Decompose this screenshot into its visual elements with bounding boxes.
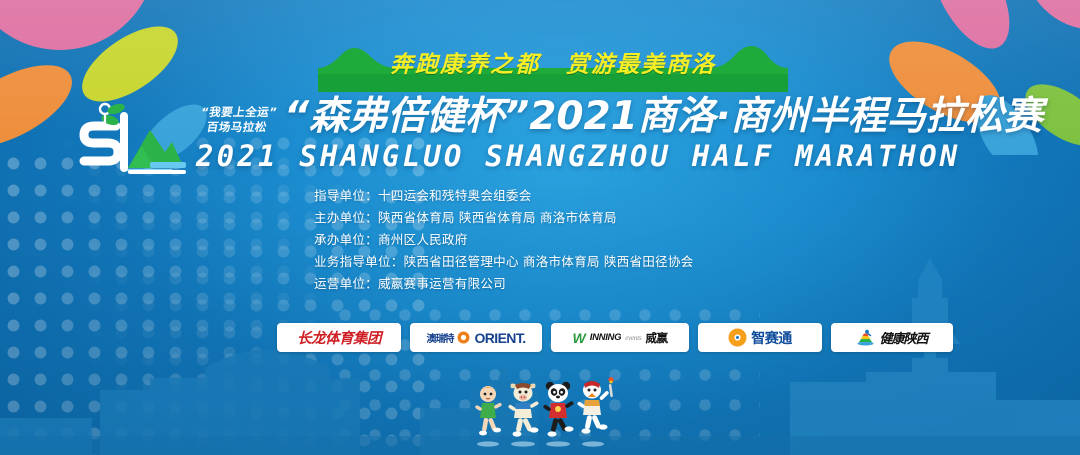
sponsor-logo-strip: 长龙体育集团 澳瑞特 ORIENT. W INNING events 威嬴 智赛…	[277, 323, 953, 352]
org-value: 陕西省田径管理中心 商洛市体育局 陕西省田径协会	[404, 254, 694, 269]
sponsor-winning-english: INNING	[590, 332, 621, 343]
org-label: 主办单位：	[314, 210, 378, 225]
title-english: 2021 SHANGLUO SHANGZHOU HALF MARATHON	[196, 142, 1046, 171]
org-value: 陕西省体育局 陕西省体育局 商洛市体育局	[378, 210, 617, 225]
sponsor-changlong-text: 长龙体育集团	[297, 327, 381, 348]
org-row: 运营单位：威嬴赛事运营有限公司	[314, 278, 954, 291]
org-row: 业务指导单位：陕西省田径管理中心 商洛市体育局 陕西省田径协会	[314, 256, 954, 269]
title-chinese: “森弗倍健杯”2021商洛·商州半程马拉松赛	[284, 97, 1044, 136]
zhisaitong-swirl-icon	[728, 328, 747, 347]
sponsor-healthy-shaanxi-chinese: 健康陕西	[879, 328, 927, 347]
stamp-line-2: 百场马拉松	[206, 121, 268, 134]
org-value: 十四运会和残特奥会组委会	[378, 188, 532, 203]
games-slogan-stamp: “我要上全运” 百场马拉松	[189, 101, 287, 139]
org-row: 指导单位：十四运会和残特奥会组委会	[314, 190, 954, 203]
sponsor-logo-orient[interactable]: 澳瑞特 ORIENT.	[410, 323, 542, 352]
marathon-poster: 奔跑康养之都 赏游最美商洛 “我要上全运” 百场马拉松 “森弗倍健杯”20	[0, 0, 1080, 455]
org-row: 主办单位：陕西省体育局 陕西省体育局 商洛市体育局	[314, 212, 954, 225]
event-logo	[72, 96, 190, 178]
sponsor-logo-zhisaitong[interactable]: 智赛通	[698, 323, 822, 352]
org-label: 承办单位：	[314, 232, 378, 247]
sponsor-winning-w: W	[573, 331, 586, 345]
org-label: 指导单位：	[314, 188, 378, 203]
org-value: 商州区人民政府	[378, 232, 468, 247]
stamp-line-1: “我要上全运”	[200, 106, 278, 119]
sponsor-winning-chinese: 威嬴	[645, 330, 667, 346]
tagline-banner: 奔跑康养之都 赏游最美商洛	[318, 34, 788, 92]
mascot-3	[543, 382, 575, 437]
tagline-part1: 奔跑康养之都	[390, 45, 540, 79]
org-label: 业务指导单位：	[314, 254, 404, 269]
sponsor-logo-healthy-shaanxi[interactable]: 健康陕西	[831, 323, 953, 352]
sponsor-winning-sub: events	[625, 334, 641, 342]
mascot-1	[475, 386, 502, 435]
organization-list: 指导单位：十四运会和残特奥会组委会 主办单位：陕西省体育局 陕西省体育局 商洛市…	[314, 190, 954, 300]
org-value: 威嬴赛事运营有限公司	[378, 276, 506, 291]
org-row: 承办单位：商州区人民政府	[314, 234, 954, 247]
sponsor-zhisaitong-chinese: 智赛通	[751, 328, 792, 348]
sponsor-orient-english: ORIENT.	[474, 330, 525, 346]
mascot-group	[466, 372, 616, 450]
orient-swoosh-icon	[457, 331, 470, 344]
mascot-4	[577, 377, 614, 434]
tagline-text: 奔跑康养之都 赏游最美商洛	[318, 34, 788, 92]
sponsor-orient-chinese: 澳瑞特	[426, 330, 453, 345]
tagline-part2: 赏游最美商洛	[566, 45, 716, 79]
mascot-2	[508, 383, 539, 437]
running-figure-icon	[856, 329, 875, 346]
sponsor-logo-changlong[interactable]: 长龙体育集团	[277, 323, 401, 352]
org-label: 运营单位：	[314, 276, 378, 291]
sponsor-logo-winning[interactable]: W INNING events 威嬴	[551, 323, 689, 352]
